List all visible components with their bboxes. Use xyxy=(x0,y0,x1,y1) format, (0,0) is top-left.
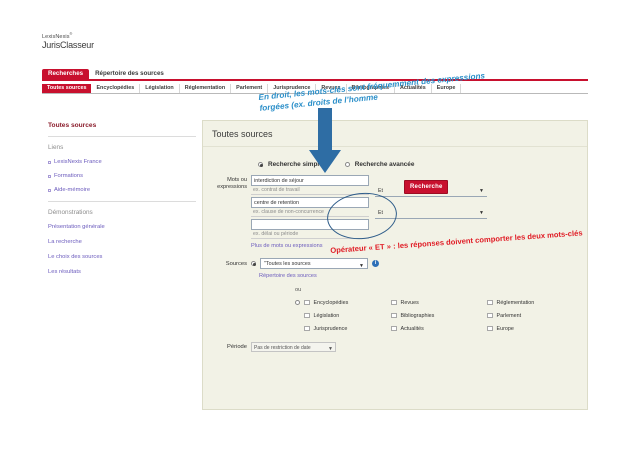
brand-line2: JurisClasseur xyxy=(42,41,94,50)
label-recherche-simple: Recherche simple xyxy=(268,161,323,168)
sidebar-item-label: LexisNexis France xyxy=(54,159,102,165)
keywords-label-line1: Mots ou xyxy=(203,177,247,184)
keyword-input-1[interactable]: interdiction de séjour xyxy=(251,175,369,186)
operator-select-2[interactable]: Et ▼ xyxy=(375,208,487,219)
checkbox-label: Encyclopédies xyxy=(314,300,349,306)
sources-checkbox-grid: Encyclopédies Législation Jurisprudence … xyxy=(295,296,587,335)
panel-title: Toutes sources xyxy=(203,121,587,147)
tab-toutes-sources[interactable]: Toutes sources xyxy=(42,84,91,93)
chevron-down-icon: ▼ xyxy=(359,261,364,272)
bullet-square-icon xyxy=(48,161,51,164)
search-panel: Toutes sources Recherche simple Recherch… xyxy=(202,120,588,410)
checkbox-revues[interactable] xyxy=(391,300,397,306)
sidebar-heading-demonstrations: Démonstrations xyxy=(48,209,196,216)
app-window: LexisNexis® JurisClasseur Recherches Rép… xyxy=(0,0,630,473)
checkbox-row-bibliographies[interactable]: Bibliographies xyxy=(391,309,487,322)
keyword-hint-3: ex. délai ou période xyxy=(251,231,369,239)
checkbox-label: Europe xyxy=(497,326,514,332)
sidebar-item-presentation-generale[interactable]: Présentation générale xyxy=(48,224,196,230)
checkbox-label: Réglementation xyxy=(497,300,535,306)
checkbox-row-revues[interactable]: Revues xyxy=(391,296,487,309)
keyword-hint-2: ex. clause de non-concurrence xyxy=(251,209,369,217)
checkbox-column-2: Revues Bibliographies Actualités xyxy=(391,296,487,335)
sidebar-title: Toutes sources xyxy=(48,122,196,129)
keywords-label: Mots ou expressions xyxy=(203,175,251,249)
keyword-input-2[interactable]: centre de retention xyxy=(251,197,369,208)
sidebar-item-formations[interactable]: Formations xyxy=(48,173,196,179)
tab-europe[interactable]: Europe xyxy=(432,84,462,93)
tab-recherches[interactable]: Recherches xyxy=(42,69,89,79)
tab-jurisprudence[interactable]: Jurisprudence xyxy=(268,84,316,93)
tab-reglementation[interactable]: Réglementation xyxy=(180,84,231,93)
checkbox-europe[interactable] xyxy=(487,326,493,332)
info-icon[interactable]: i xyxy=(372,260,379,267)
sidebar: Toutes sources Liens LexisNexis France F… xyxy=(48,122,196,284)
periode-row: Période Pas de restriction de date ▼ xyxy=(203,342,587,352)
bullet-square-icon xyxy=(48,175,51,178)
sources-select-value: "Toutes les sources xyxy=(264,261,311,267)
sources-row: Sources "Toutes les sources ▼ i xyxy=(203,258,587,269)
radio-sources-dropdown[interactable] xyxy=(251,261,256,266)
more-keywords-link[interactable]: Plus de mots ou expressions xyxy=(251,243,587,249)
checkbox-label: Revues xyxy=(401,300,419,306)
keyword-field-block-2: centre de retention ex. clause de non-co… xyxy=(251,197,587,217)
chevron-down-icon: ▼ xyxy=(479,188,484,194)
search-button[interactable]: Recherche xyxy=(404,180,448,194)
tab-actualites[interactable]: Actualités xyxy=(395,84,432,93)
periode-select-value: Pas de restriction de date xyxy=(254,345,311,351)
keywords-row: Mots ou expressions interdiction de séjo… xyxy=(203,175,587,249)
checkbox-row-jurisprudence[interactable]: Jurisprudence xyxy=(295,322,391,335)
tab-revues[interactable]: Revues xyxy=(316,84,346,93)
checkbox-reglementation[interactable] xyxy=(487,300,493,306)
sidebar-item-les-resultats[interactable]: Les résultats xyxy=(48,269,196,275)
checkbox-jurisprudence[interactable] xyxy=(304,326,310,332)
keyword-input-3[interactable] xyxy=(251,219,369,230)
checkbox-row-legislation[interactable]: Législation xyxy=(295,309,391,322)
tab-encyclopedies[interactable]: Encyclopédies xyxy=(91,84,140,93)
checkbox-label: Parlement xyxy=(497,313,522,319)
tab-legislation[interactable]: Législation xyxy=(140,84,179,93)
sidebar-heading-liens: Liens xyxy=(48,144,196,151)
sidebar-divider-2 xyxy=(48,201,196,202)
secondary-tabbar: Toutes sources Encyclopédies Législation… xyxy=(42,83,588,94)
radio-sources-checkboxes[interactable] xyxy=(295,300,300,305)
checkbox-label: Législation xyxy=(314,313,340,319)
sidebar-item-le-choix-des-sources[interactable]: Le choix des sources xyxy=(48,254,196,260)
sidebar-item-label: Formations xyxy=(54,173,83,179)
checkbox-label: Actualités xyxy=(401,326,424,332)
radio-recherche-simple[interactable] xyxy=(258,162,263,167)
tab-parlement[interactable]: Parlement xyxy=(231,84,268,93)
keywords-label-line2: expressions xyxy=(203,184,247,191)
repertoire-des-sources-link[interactable]: Répertoire des sources xyxy=(259,273,587,279)
checkbox-row-europe[interactable]: Europe xyxy=(487,322,583,335)
sidebar-divider-1 xyxy=(48,136,196,137)
periode-label: Période xyxy=(203,344,251,350)
brand-line1: LexisNexis xyxy=(42,34,70,40)
sidebar-item-aide-memoire[interactable]: Aide-mémoire xyxy=(48,187,196,193)
tab-bibliographies[interactable]: Bibliographies xyxy=(347,84,395,93)
sidebar-item-lexisnexis-france[interactable]: LexisNexis France xyxy=(48,159,196,165)
sources-ou-label: ou xyxy=(295,287,587,293)
keyword-hint-1: ex. contrat de travail xyxy=(251,187,369,195)
checkbox-legislation[interactable] xyxy=(304,313,310,319)
checkbox-label: Jurisprudence xyxy=(314,326,348,332)
keyword-field-block-3: ex. délai ou période xyxy=(251,219,587,239)
checkbox-encyclopedies[interactable] xyxy=(304,300,310,306)
sidebar-item-label: Aide-mémoire xyxy=(54,187,90,193)
operator-select-1-value: Et xyxy=(378,188,383,194)
search-mode-group: Recherche simple Recherche avancée xyxy=(203,161,587,168)
periode-select[interactable]: Pas de restriction de date ▼ xyxy=(251,342,336,352)
checkbox-column-3: Réglementation Parlement Europe xyxy=(487,296,583,335)
checkbox-row-reglementation[interactable]: Réglementation xyxy=(487,296,583,309)
checkbox-label: Bibliographies xyxy=(401,313,435,319)
checkbox-row-parlement[interactable]: Parlement xyxy=(487,309,583,322)
label-recherche-avancee: Recherche avancée xyxy=(355,161,415,168)
bullet-square-icon xyxy=(48,189,51,192)
checkbox-row-encyclopedies[interactable]: Encyclopédies xyxy=(295,296,391,309)
sources-label: Sources xyxy=(203,261,251,267)
registered-mark: ® xyxy=(70,32,73,36)
tab-repertoire-des-sources[interactable]: Répertoire des sources xyxy=(89,69,170,79)
sidebar-item-la-recherche[interactable]: La recherche xyxy=(48,239,196,245)
radio-recherche-avancee[interactable] xyxy=(345,162,350,167)
chevron-down-icon: ▼ xyxy=(479,210,484,216)
chevron-down-icon: ▼ xyxy=(328,344,333,354)
checkbox-row-actualites[interactable]: Actualités xyxy=(391,322,487,335)
checkbox-parlement[interactable] xyxy=(487,313,493,319)
brand-logo: LexisNexis® JurisClasseur xyxy=(42,33,94,50)
checkbox-bibliographies[interactable] xyxy=(391,313,397,319)
checkbox-column-1: Encyclopédies Législation Jurisprudence xyxy=(295,296,391,335)
sources-select[interactable]: "Toutes les sources ▼ xyxy=(260,258,368,269)
operator-select-2-value: Et xyxy=(378,210,383,216)
search-form: Recherche simple Recherche avancée Mots … xyxy=(203,147,587,352)
checkbox-actualites[interactable] xyxy=(391,326,397,332)
primary-tabbar: Recherches Répertoire des sources xyxy=(42,69,588,81)
